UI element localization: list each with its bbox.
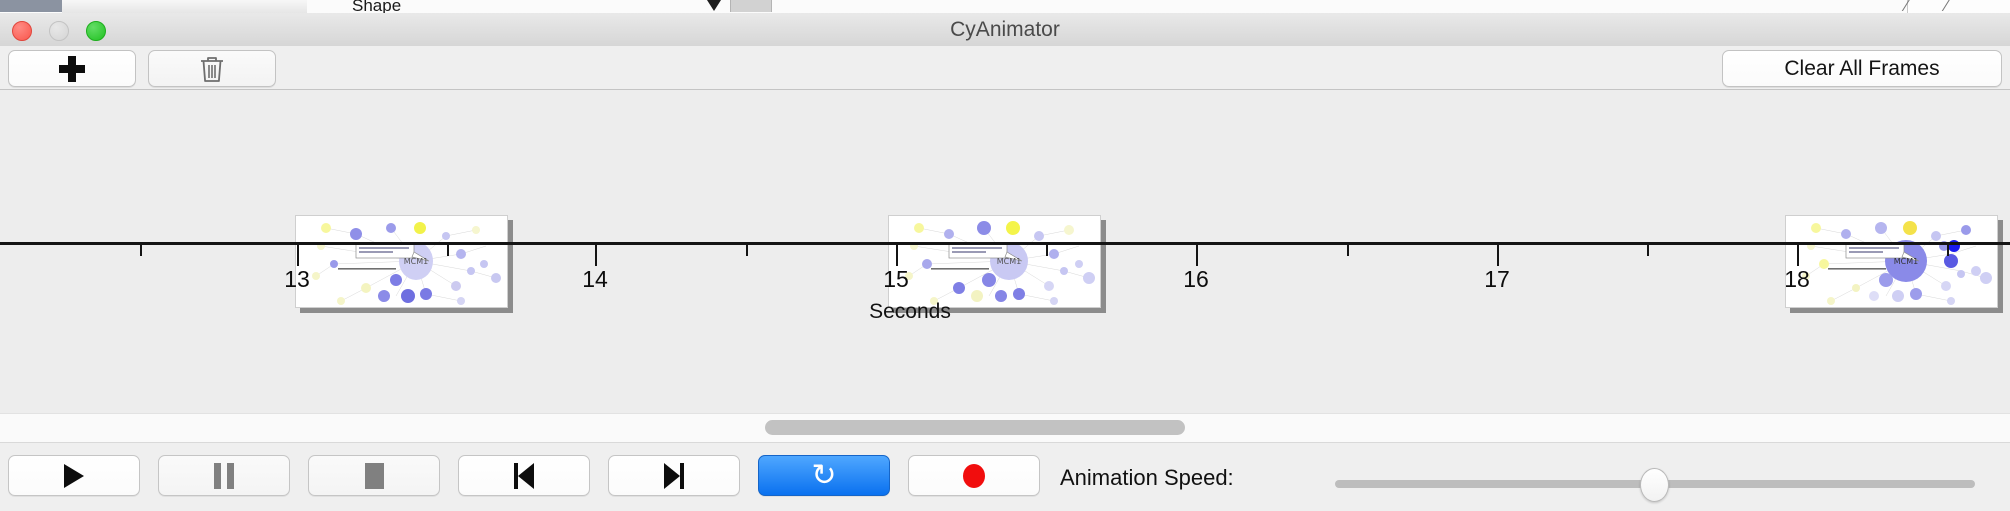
frame-thumbnail: MCM1 bbox=[888, 215, 1101, 308]
frame-center-label: MCM1 bbox=[1894, 257, 1918, 266]
horizontal-scrollbar-track[interactable] bbox=[0, 413, 2010, 443]
axis-major-tick bbox=[896, 245, 898, 266]
animation-speed-slider-thumb[interactable] bbox=[1640, 468, 1669, 502]
axis-major-tick bbox=[1196, 245, 1198, 266]
skip-back-icon bbox=[514, 463, 534, 489]
pause-icon bbox=[214, 463, 234, 489]
axis-minor-tick bbox=[1046, 245, 1048, 256]
network-graph-icon: MCM1 bbox=[296, 216, 507, 307]
add-frame-button[interactable] bbox=[8, 50, 136, 87]
pause-button[interactable] bbox=[158, 455, 290, 496]
title-bar[interactable]: CyAnimator bbox=[0, 13, 2010, 47]
axis-minor-tick bbox=[140, 245, 142, 256]
axis-tick-label: 13 bbox=[267, 266, 327, 293]
background-shape-label: Shape bbox=[352, 0, 401, 13]
plus-icon bbox=[59, 56, 85, 82]
axis-tick-label: 12 bbox=[0, 266, 7, 293]
axis-minor-tick bbox=[1947, 245, 1949, 256]
clear-all-frames-button[interactable]: Clear All Frames bbox=[1722, 50, 2002, 87]
axis-major-tick bbox=[1497, 245, 1499, 266]
stop-icon bbox=[365, 463, 384, 489]
axis-tick-label: 17 bbox=[1467, 266, 1527, 293]
background-toolbar-segment bbox=[190, 0, 243, 13]
horizontal-scrollbar-thumb[interactable] bbox=[765, 420, 1185, 435]
axis-minor-tick bbox=[447, 245, 449, 256]
trash-icon bbox=[198, 54, 226, 84]
background-toolbar-segment bbox=[62, 0, 141, 13]
skip-to-start-button[interactable] bbox=[458, 455, 590, 496]
timeline-frame[interactable]: MCM1 bbox=[888, 215, 1103, 310]
background-toolbar-segment bbox=[242, 0, 308, 13]
skip-forward-icon bbox=[664, 463, 684, 489]
axis-tick-label: 18 bbox=[1767, 266, 1827, 293]
background-slash-icon: ⁄ bbox=[1905, 0, 1908, 13]
axis-title-text: Seconds bbox=[869, 300, 951, 323]
background-toolbar-segment bbox=[777, 0, 1908, 13]
loop-button[interactable]: ↻ bbox=[758, 455, 890, 496]
axis-minor-tick bbox=[1647, 245, 1649, 256]
animation-speed-label: Animation Speed: bbox=[1060, 465, 1234, 491]
delete-frame-button[interactable] bbox=[148, 50, 276, 87]
axis-tick-label: 14 bbox=[565, 266, 625, 293]
stop-button[interactable] bbox=[308, 455, 440, 496]
cyanimator-window: Shape ⁄ ⁄ CyAnimator Clear All Frames bbox=[0, 0, 2010, 510]
frame-thumbnail: MCM1 bbox=[1785, 215, 1998, 308]
loop-icon: ↻ bbox=[811, 461, 836, 491]
axis-minor-tick bbox=[746, 245, 748, 256]
play-icon bbox=[64, 464, 84, 488]
timeline-frame[interactable]: MCM1 bbox=[1785, 215, 2000, 310]
background-toolbar-segment bbox=[140, 0, 191, 13]
frames-toolbar: Clear All Frames bbox=[0, 46, 2010, 90]
axis-major-tick bbox=[595, 245, 597, 266]
frame-center-label: MCM1 bbox=[997, 257, 1021, 266]
axis-minor-tick bbox=[1347, 245, 1349, 256]
timeline-axis bbox=[0, 242, 2010, 245]
timeline-panel[interactable]: MCM1 bbox=[0, 90, 2010, 413]
axis-title: Seconds bbox=[0, 300, 2010, 324]
record-button[interactable] bbox=[908, 455, 1040, 496]
record-icon bbox=[963, 464, 985, 488]
axis-tick-label: 16 bbox=[1166, 266, 1226, 293]
window-title: CyAnimator bbox=[0, 13, 2010, 46]
skip-to-end-button[interactable] bbox=[608, 455, 740, 496]
axis-tick-label: 15 bbox=[866, 266, 926, 293]
background-slash-icon: ⁄ bbox=[1945, 0, 1948, 13]
background-titlebar-fragment bbox=[0, 0, 62, 12]
axis-major-tick bbox=[1797, 245, 1799, 266]
network-graph-icon: MCM1 bbox=[889, 216, 1100, 307]
play-button[interactable] bbox=[8, 455, 140, 496]
background-caret-icon bbox=[707, 0, 721, 11]
playback-bar: ↻ Animation Speed: bbox=[0, 442, 2010, 511]
network-graph-icon: MCM1 bbox=[1786, 216, 1997, 307]
frame-center-label: MCM1 bbox=[404, 257, 428, 266]
axis-major-tick bbox=[297, 245, 299, 266]
background-button-fragment bbox=[730, 0, 772, 12]
frame-thumbnail: MCM1 bbox=[295, 215, 508, 308]
timeline-frame[interactable]: MCM1 bbox=[295, 215, 510, 310]
background-window-strip: Shape ⁄ ⁄ bbox=[0, 0, 2010, 13]
